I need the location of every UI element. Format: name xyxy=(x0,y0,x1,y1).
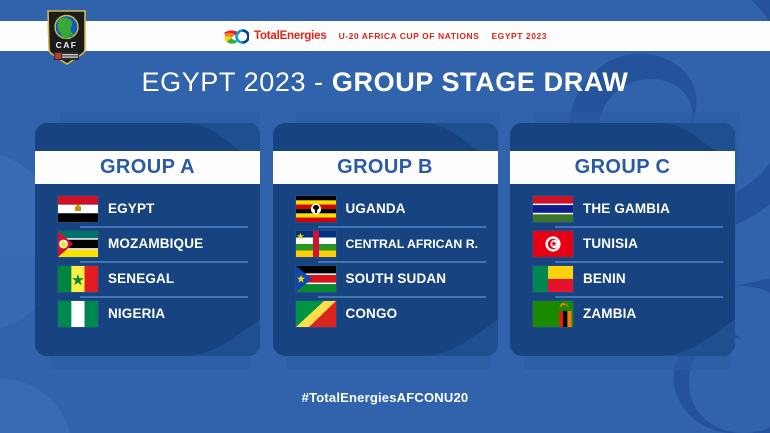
totalenergies-wordmark: TotalEnergies xyxy=(254,30,327,42)
sponsor-bar: TotalEnergies U-20 AFRICA CUP OF NATIONS… xyxy=(0,21,770,51)
team-row[interactable]: UGANDA xyxy=(273,191,498,226)
group-header: GROUP B xyxy=(273,151,498,184)
group-card: GROUP C THE GAMBIA TUNISIA BENIN ZAM xyxy=(510,123,735,356)
flag-nigeria xyxy=(58,301,98,327)
competition-name: U-20 AFRICA CUP OF NATIONS xyxy=(339,31,480,41)
footer-hashtag: #TotalEnergiesAFCONU20 xyxy=(0,390,770,405)
team-name: MOZAMBIQUE xyxy=(108,236,203,251)
group-title: GROUP B xyxy=(337,156,433,179)
flag-benin xyxy=(533,266,573,292)
team-name: SOUTH SUDAN xyxy=(346,271,447,286)
team-row[interactable]: TUNISIA xyxy=(510,226,735,261)
team-row[interactable]: MOZAMBIQUE xyxy=(35,226,260,261)
flag-congo xyxy=(296,301,336,327)
team-name: THE GAMBIA xyxy=(583,201,670,216)
team-name: TUNISIA xyxy=(583,236,638,251)
group-header: GROUP A xyxy=(35,151,260,184)
flag-mozambique xyxy=(58,231,98,257)
team-name: BENIN xyxy=(583,271,626,286)
team-row[interactable]: THE GAMBIA xyxy=(510,191,735,226)
group-header: GROUP C xyxy=(510,151,735,184)
flag-senegal xyxy=(58,266,98,292)
group-title: GROUP C xyxy=(575,156,671,179)
team-name: NIGERIA xyxy=(108,306,165,321)
flag-egypt xyxy=(58,196,98,222)
page-title: EGYPT 2023 - GROUP STAGE DRAW xyxy=(0,67,770,98)
team-name: CENTRAL AFRICAN R. xyxy=(346,237,479,251)
team-row[interactable]: BENIN xyxy=(510,261,735,296)
group-cards: GROUP A EGYPT MOZAMBIQUE SENEGAL NIG xyxy=(35,123,735,356)
totalenergies-logo: TotalEnergies xyxy=(223,29,327,44)
page-title-light: EGYPT 2023 - xyxy=(141,67,331,97)
caf-logo: CAF xyxy=(44,7,89,67)
flag-zambia xyxy=(533,301,573,327)
team-row[interactable]: NIGERIA xyxy=(35,296,260,331)
team-row[interactable]: EGYPT xyxy=(35,191,260,226)
team-row[interactable]: SENEGAL xyxy=(35,261,260,296)
team-row[interactable]: ZAMBIA xyxy=(510,296,735,331)
svg-text:CAF: CAF xyxy=(56,40,78,50)
team-name: CONGO xyxy=(346,306,398,321)
flag-central-african-republic xyxy=(296,231,336,257)
team-list: THE GAMBIA TUNISIA BENIN ZAMBIA xyxy=(510,191,735,331)
group-card: GROUP B UGANDA CENTRAL AFRICAN R. SOUTH … xyxy=(273,123,498,356)
team-row[interactable]: CENTRAL AFRICAN R. xyxy=(273,226,498,261)
team-name: SENEGAL xyxy=(108,271,174,286)
team-list: UGANDA CENTRAL AFRICAN R. SOUTH SUDAN CO… xyxy=(273,191,498,331)
flag-gambia xyxy=(533,196,573,222)
team-row[interactable]: SOUTH SUDAN xyxy=(273,261,498,296)
flag-south-sudan xyxy=(296,266,336,292)
team-name: ZAMBIA xyxy=(583,306,636,321)
competition-edition: EGYPT 2023 xyxy=(491,31,547,41)
team-name: EGYPT xyxy=(108,201,155,216)
team-name: UGANDA xyxy=(346,201,406,216)
page-title-bold: GROUP STAGE DRAW xyxy=(332,67,629,97)
totalenergies-mark-icon xyxy=(223,29,249,44)
team-row[interactable]: CONGO xyxy=(273,296,498,331)
team-list: EGYPT MOZAMBIQUE SENEGAL NIGERIA xyxy=(35,191,260,331)
group-title: GROUP A xyxy=(100,156,195,179)
group-card: GROUP A EGYPT MOZAMBIQUE SENEGAL NIG xyxy=(35,123,260,356)
flag-tunisia xyxy=(533,231,573,257)
flag-uganda xyxy=(296,196,336,222)
